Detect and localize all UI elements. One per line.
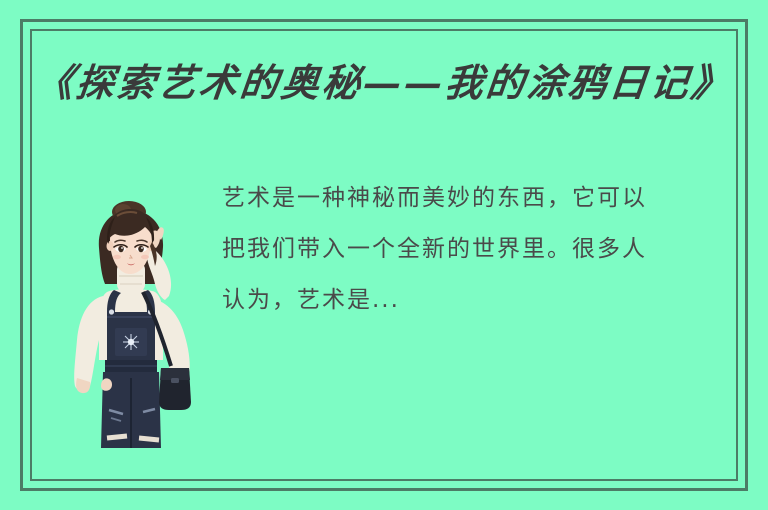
page-title: 《探索艺术的奥秘——我的涂鸦日记》: [0, 52, 768, 107]
pupil-left: [118, 246, 124, 252]
poster-canvas: 《探索艺术的奥秘——我的涂鸦日记》: [0, 0, 768, 510]
ear-left: [107, 241, 114, 251]
eye-sparkle-left: [121, 247, 123, 249]
body-line-3: 认为，艺术是...: [222, 275, 722, 326]
body-line-2: 把我们带入一个全新的世界里。很多人: [222, 224, 722, 275]
rip-hem-right: [139, 438, 159, 440]
rip-hem-left: [107, 436, 127, 438]
blush-right: [141, 255, 149, 259]
pupil-right: [138, 246, 144, 252]
eye-sparkle-right: [141, 247, 143, 249]
strap-buckle-left: [109, 309, 114, 314]
pocket-embroidery: [123, 334, 139, 350]
bib-seam: [107, 316, 155, 318]
body-line-1: 艺术是一种神秘而美妙的东西，它可以: [222, 173, 722, 224]
anime-girl-illustration-svg: [57, 200, 205, 448]
anime-girl-illustration: [57, 200, 205, 448]
body-paragraph: 艺术是一种神秘而美妙的东西，它可以 把我们带入一个全新的世界里。很多人 认为，艺…: [222, 173, 722, 326]
hand-in-pocket: [101, 378, 112, 390]
bag-clasp: [171, 378, 179, 383]
blush-left: [113, 255, 121, 259]
